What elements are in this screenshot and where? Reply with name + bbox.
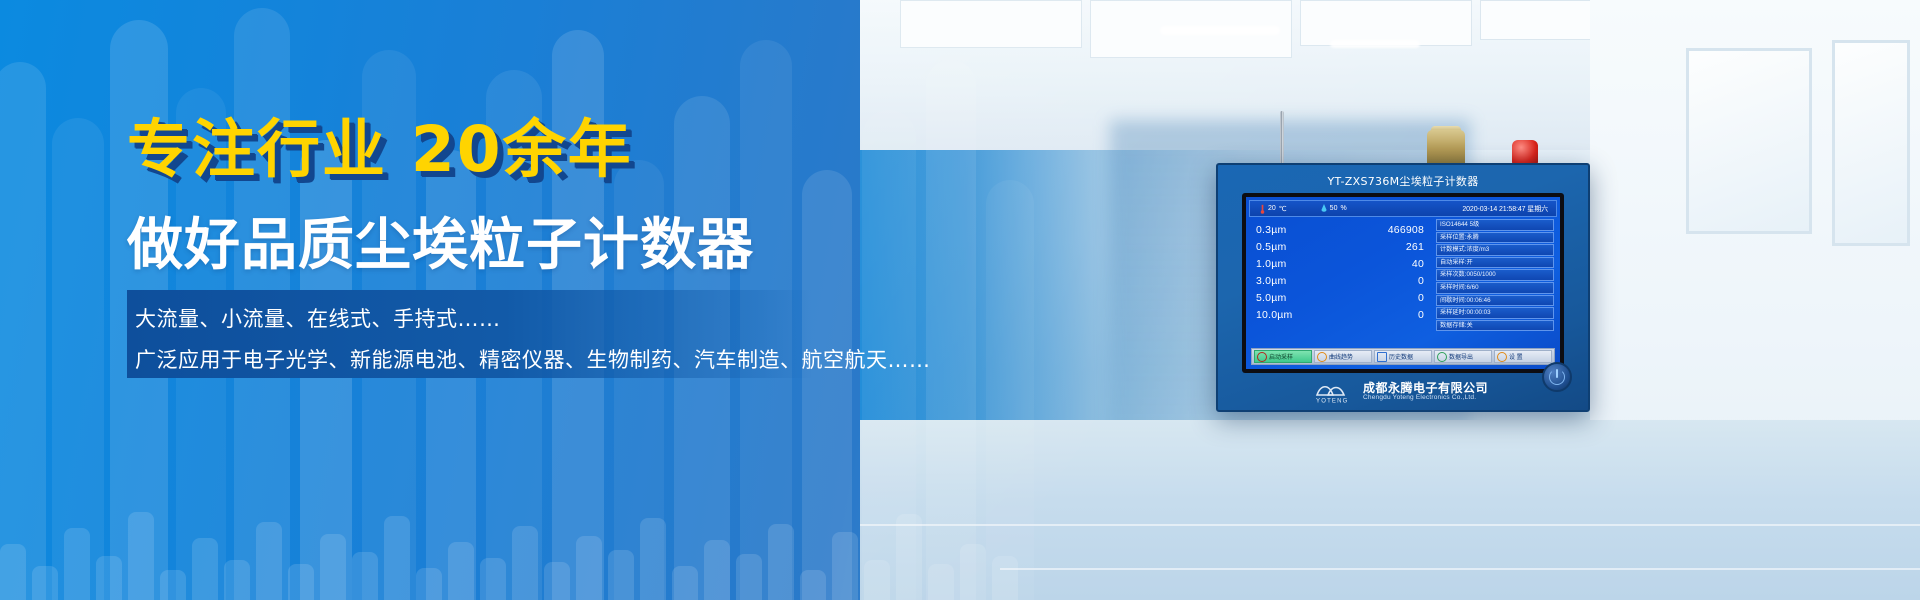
info-row: 数据存储:关 — [1436, 320, 1554, 332]
info-row: 自动采样:开 — [1436, 257, 1554, 269]
info-row: 采样次数:0050/1000 — [1436, 269, 1554, 281]
power-button[interactable] — [1542, 362, 1572, 392]
device-screen[interactable]: 20 ℃ 50 % 2020-03-14 21:58:47 星期六 — [1246, 197, 1560, 369]
particle-count: 0 — [1418, 275, 1424, 287]
humidity-unit: % — [1340, 205, 1346, 212]
bottom-bar-strip — [0, 480, 1920, 600]
wall-window — [1686, 48, 1812, 234]
device-body: YT-ZXS736M尘埃粒子计数器 20 ℃ — [1216, 163, 1590, 412]
particle-row: 0.5µm 261 — [1256, 238, 1424, 255]
brand-name-cn: 成都永腾电子有限公司 — [1363, 382, 1488, 395]
status-bar: 20 ℃ 50 % 2020-03-14 21:58:47 星期六 — [1249, 200, 1557, 217]
brand-text: 成都永腾电子有限公司 Chengdu Yoteng Electronics Co… — [1363, 382, 1488, 401]
hero-banner: 专注行业 20余年 做好品质尘埃粒子计数器 大流量、小流量、在线式、手持式…… … — [0, 0, 1920, 600]
info-row: 采样时间:6/60 — [1436, 282, 1554, 294]
headline-secondary: 做好品质尘埃粒子计数器 — [127, 218, 754, 274]
export-icon — [1437, 352, 1447, 362]
particle-size: 1.0µm — [1256, 258, 1286, 270]
export-data-label: 数据导出 — [1449, 352, 1473, 361]
info-row: 采样位置:永腾 — [1436, 232, 1554, 244]
humidity-value: 50 — [1330, 205, 1338, 212]
brand-name-en: Chengdu Yoteng Electronics Co.,Ltd. — [1363, 395, 1488, 402]
headline-primary: 专注行业 20余年 — [127, 118, 633, 181]
info-row: ISO14644 5级 — [1436, 219, 1554, 231]
sensor-cap — [1427, 130, 1465, 165]
particle-row: 5.0µm 0 — [1256, 289, 1424, 306]
particle-count: 466908 — [1388, 224, 1424, 236]
settings-info-panel: ISO14644 5级 采样位置:永腾 计数模式:浓度/m3 自动采样:开 采样… — [1436, 219, 1554, 332]
temperature-unit: ℃ — [1279, 205, 1287, 213]
particle-size: 0.5µm — [1256, 241, 1286, 253]
info-row: 采样延时:00:00:03 — [1436, 307, 1554, 319]
yoteng-logo-icon: YOTENG — [1314, 380, 1356, 404]
trend-curve-label: 曲线趋势 — [1329, 352, 1353, 361]
particle-size: 0.3µm — [1256, 224, 1286, 236]
alarm-lamp — [1512, 140, 1538, 165]
antenna — [1280, 111, 1284, 165]
svg-text:YOTENG: YOTENG — [1316, 399, 1349, 405]
particle-count: 40 — [1412, 258, 1424, 270]
ceiling-lamp — [1160, 26, 1280, 35]
subtitle-line-2: 广泛应用于电子光学、新能源电池、精密仪器、生物制药、汽车制造、航空航天…… — [135, 344, 931, 374]
thermometer-icon — [1260, 204, 1265, 214]
start-sampling-button[interactable]: 启动采样 — [1254, 350, 1312, 363]
info-row: 计数模式:浓度/m3 — [1436, 244, 1554, 256]
particle-count: 0 — [1418, 292, 1424, 304]
wall-window — [1832, 40, 1910, 246]
device-model-label: YT-ZXS736M尘埃粒子计数器 — [1218, 173, 1588, 189]
ceiling-lamp — [1330, 40, 1420, 48]
particle-counter-device: YT-ZXS736M尘埃粒子计数器 20 ℃ — [1216, 163, 1586, 408]
export-data-button[interactable]: 数据导出 — [1434, 350, 1492, 363]
info-row: 间歇时间:00:06:46 — [1436, 295, 1554, 307]
humidity-readout: 50 % — [1321, 204, 1347, 214]
headline-primary-wrap: 专注行业 20余年 — [127, 118, 633, 181]
particle-size: 5.0µm — [1256, 292, 1286, 304]
start-sampling-label: 启动采样 — [1269, 352, 1293, 361]
trend-curve-button[interactable]: 曲线趋势 — [1314, 350, 1372, 363]
brand-block: YOTENG 成都永腾电子有限公司 Chengdu Yoteng Electro… — [1314, 380, 1488, 404]
power-ring-icon — [1549, 369, 1565, 385]
particle-count: 261 — [1406, 241, 1424, 253]
particle-row: 0.3µm 466908 — [1256, 221, 1424, 238]
particle-readout-list: 0.3µm 466908 0.5µm 261 1.0µm 40 3.0µm — [1256, 221, 1424, 323]
screen-bezel: 20 ℃ 50 % 2020-03-14 21:58:47 星期六 — [1242, 193, 1564, 373]
particle-row: 1.0µm 40 — [1256, 255, 1424, 272]
particle-row: 10.0µm 0 — [1256, 306, 1424, 323]
particle-size: 3.0µm — [1256, 275, 1286, 287]
particle-size: 10.0µm — [1256, 309, 1292, 321]
power-icon — [1257, 352, 1267, 362]
history-data-button[interactable]: 历史数据 — [1374, 350, 1432, 363]
temperature-readout: 20 ℃ — [1260, 204, 1287, 214]
document-icon — [1377, 352, 1387, 362]
water-drop-icon — [1321, 204, 1327, 214]
gear-icon — [1497, 352, 1507, 362]
temperature-value: 20 — [1268, 205, 1276, 212]
particle-row: 3.0µm 0 — [1256, 272, 1424, 289]
particle-count: 0 — [1418, 309, 1424, 321]
chart-icon — [1317, 352, 1327, 362]
datetime-readout: 2020-03-14 21:58:47 星期六 — [1462, 204, 1548, 214]
subtitle-line-1: 大流量、小流量、在线式、手持式…… — [135, 303, 501, 333]
settings-button[interactable]: 设 置 — [1494, 350, 1552, 363]
settings-label: 设 置 — [1509, 352, 1523, 361]
screen-button-bar: 启动采样 曲线趋势 历史数据 数据导出 — [1251, 348, 1555, 365]
history-data-label: 历史数据 — [1389, 352, 1413, 361]
